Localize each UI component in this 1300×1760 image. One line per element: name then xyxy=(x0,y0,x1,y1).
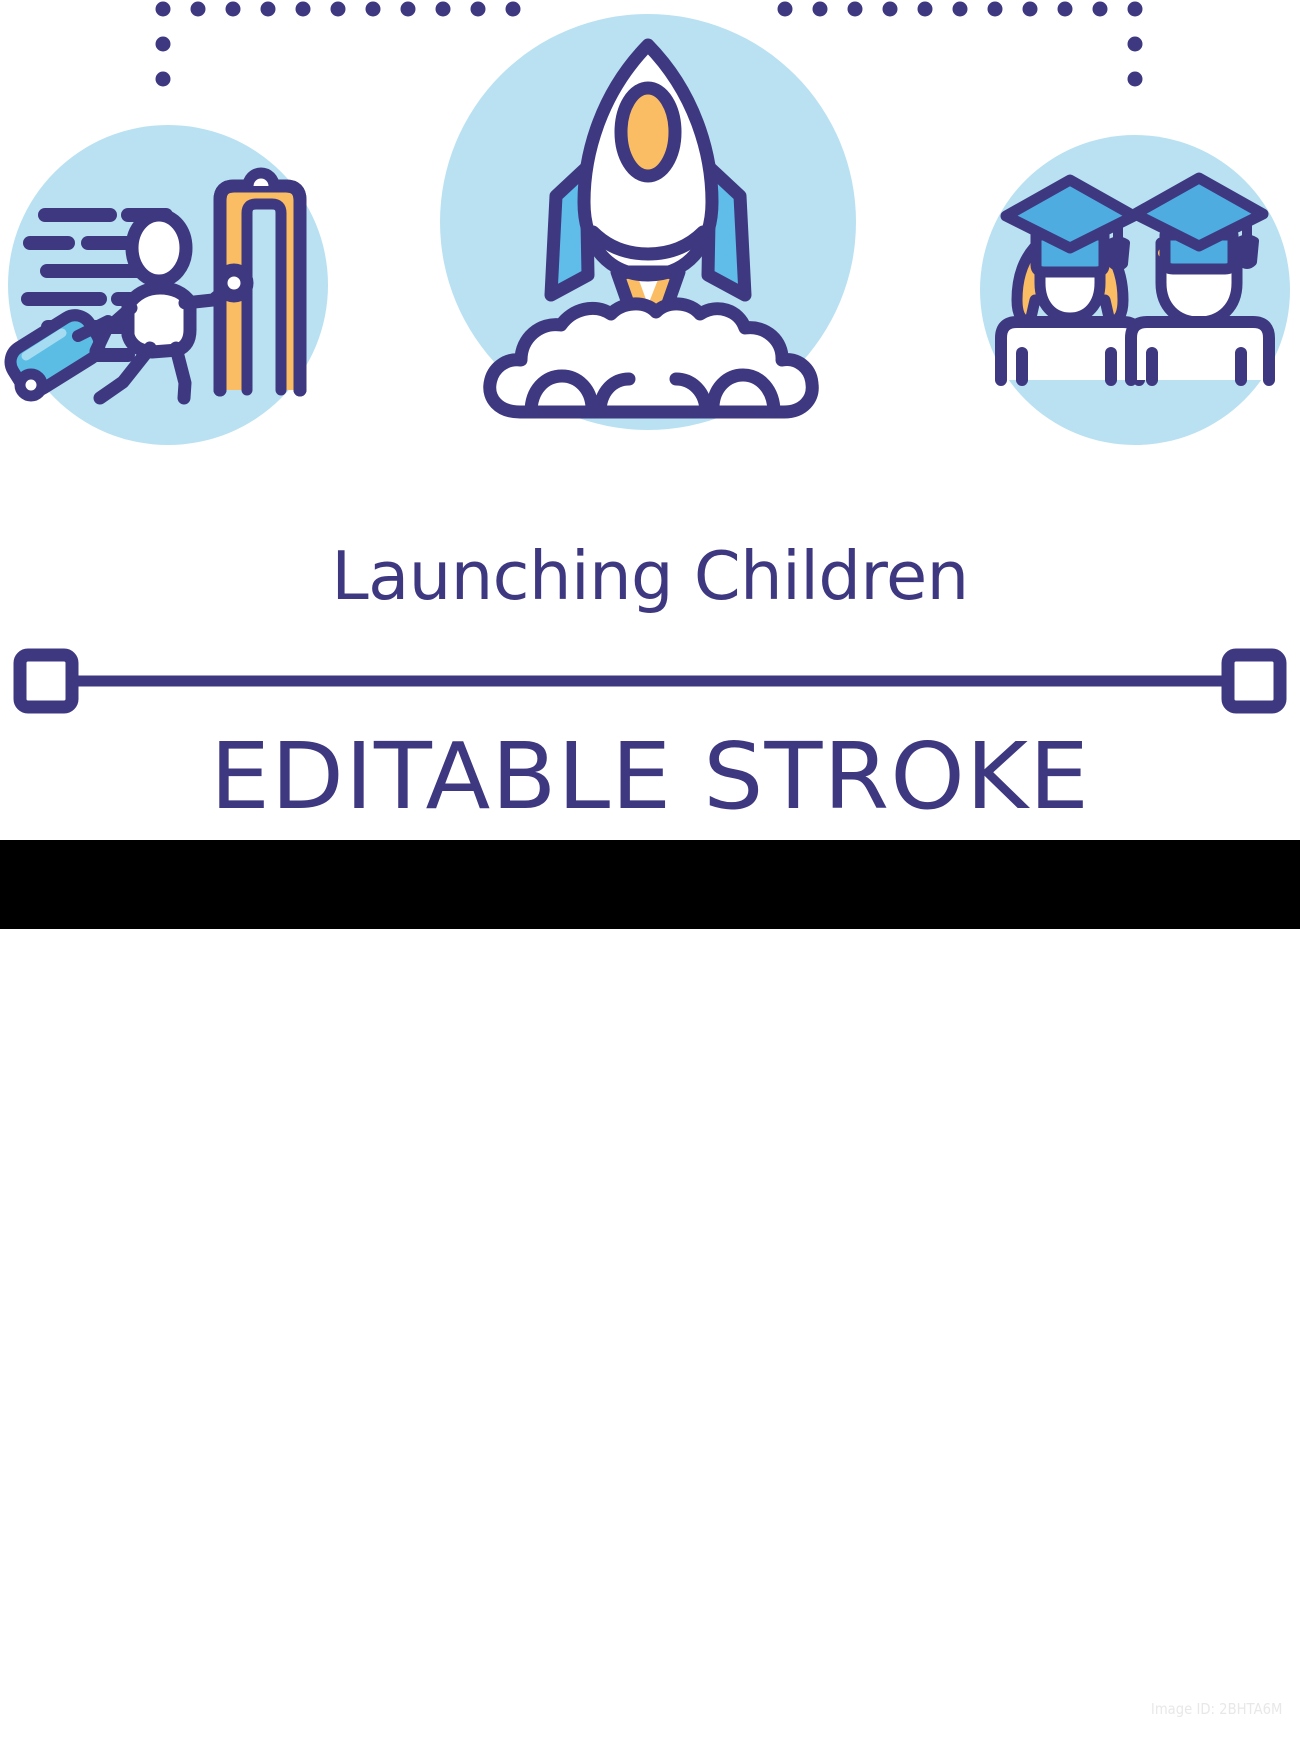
alamy-logo: alamy xyxy=(52,1697,182,1755)
watermark-bar: alamy Image ID: 2BHTA6M www.alamy.com xyxy=(0,840,1300,929)
traveler-security-gate-icon xyxy=(4,125,328,445)
image-id-label: Image ID: 2BHTA6M xyxy=(1151,1702,1282,1717)
editable-stroke-label: EDITABLE STROKE xyxy=(0,731,1300,823)
graduates-icon xyxy=(980,135,1290,445)
page-title: Launching Children xyxy=(0,543,1300,610)
graduate-female-icon xyxy=(1001,180,1139,380)
stroke-anchor-handle-left[interactable] xyxy=(20,655,72,707)
illustration-canvas: Launching Children EDITABLE STROKE alamy… xyxy=(0,0,1300,929)
alamy-url-label[interactable]: www.alamy.com xyxy=(1135,1729,1282,1747)
rocket-window-icon xyxy=(621,88,675,176)
rocket-launch-icon xyxy=(440,14,856,430)
editable-stroke-bar[interactable] xyxy=(20,655,1280,707)
stroke-anchor-handle-right[interactable] xyxy=(1228,655,1280,707)
